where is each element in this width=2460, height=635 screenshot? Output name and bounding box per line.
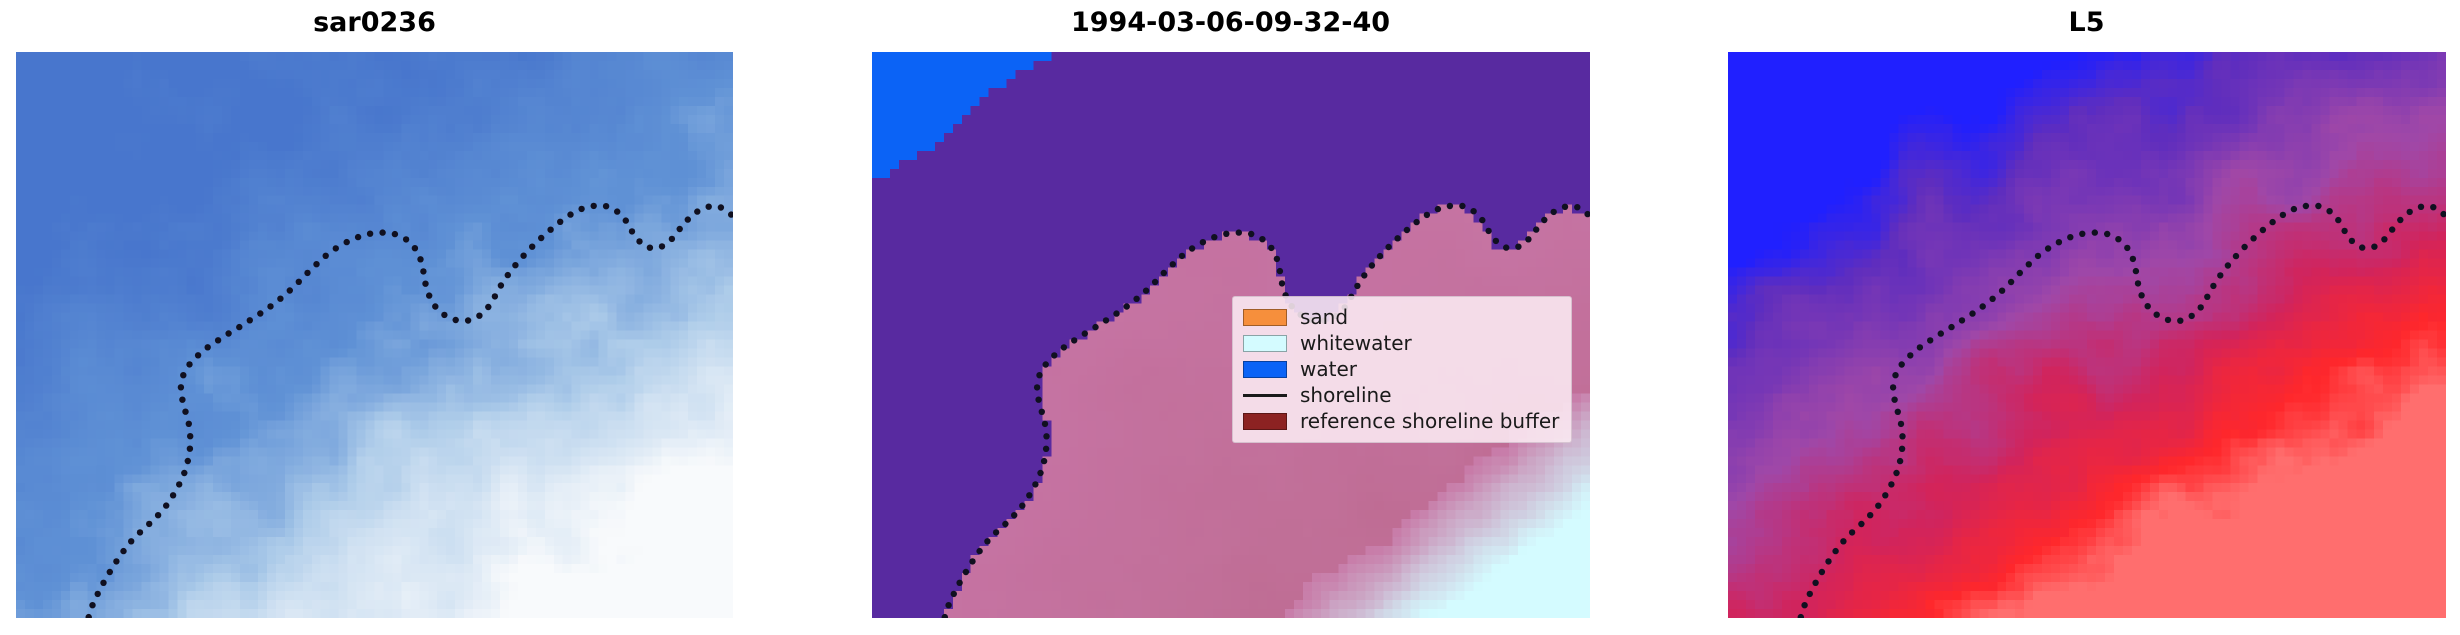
- panel-title-classification: 1994-03-06-09-32-40: [856, 6, 1605, 40]
- legend: sand whitewater water shoreline referenc…: [1232, 296, 1572, 443]
- legend-label-water: water: [1300, 358, 1357, 380]
- legend-label-reference-shoreline-buffer: reference shoreline buffer: [1300, 410, 1559, 432]
- legend-item-shoreline: shoreline: [1243, 382, 1559, 408]
- legend-item-sand: sand: [1243, 304, 1559, 330]
- legend-item-whitewater: whitewater: [1243, 330, 1559, 356]
- legend-swatch-reference-shoreline-buffer: [1243, 413, 1287, 430]
- legend-swatch-water: [1243, 361, 1287, 378]
- legend-line-shoreline: [1243, 387, 1287, 404]
- legend-label-whitewater: whitewater: [1300, 332, 1412, 354]
- panel-sar: sar0236: [0, 0, 749, 635]
- legend-swatch-whitewater: [1243, 335, 1287, 352]
- legend-label-sand: sand: [1300, 306, 1348, 328]
- sar-raster-canvas: [16, 52, 733, 618]
- figure-root: sar0236 1994-03-06-09-32-40 sand whitewa…: [0, 0, 2460, 635]
- panel-title-l5: L5: [1712, 6, 2460, 40]
- panel-classification: 1994-03-06-09-32-40 sand whitewater wate…: [856, 0, 1605, 635]
- legend-item-water: water: [1243, 356, 1559, 382]
- legend-label-shoreline: shoreline: [1300, 384, 1392, 406]
- legend-swatch-sand: [1243, 309, 1287, 326]
- panel-image-sar: [16, 52, 733, 618]
- panel-image-l5: [1728, 52, 2446, 618]
- panel-title-sar: sar0236: [0, 6, 749, 40]
- legend-item-reference-shoreline-buffer: reference shoreline buffer: [1243, 408, 1559, 434]
- l5-raster-canvas: [1728, 52, 2446, 618]
- panel-l5: L5: [1712, 0, 2460, 635]
